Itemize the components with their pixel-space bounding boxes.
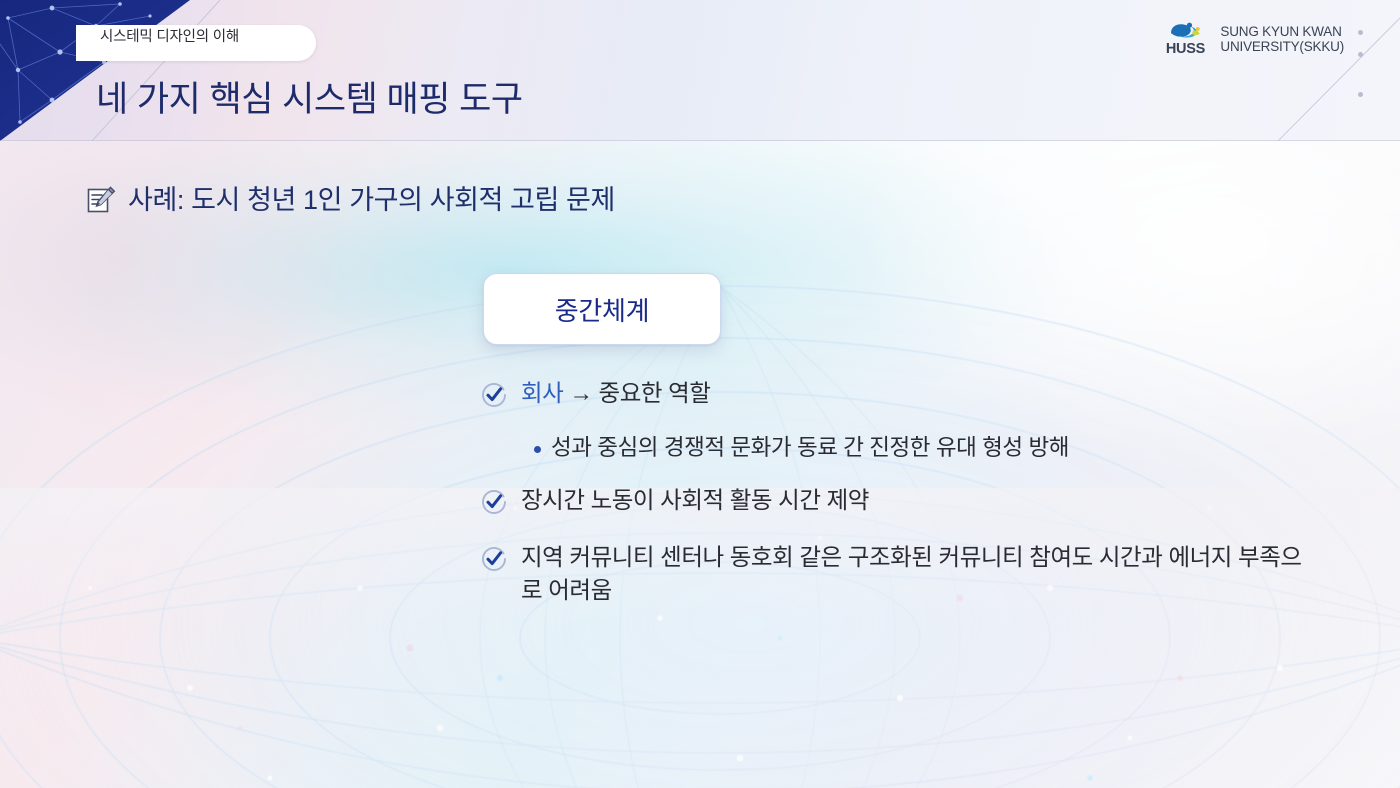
breadcrumb: 시스테믹 디자인의 이해 bbox=[100, 27, 305, 47]
bullet-item: 회사 → 중요한 역할 bbox=[481, 377, 1321, 410]
bullet-rest-text: → 중요한 역할 bbox=[563, 380, 710, 406]
bullet-text: 지역 커뮤니티 센터나 동호회 같은 구조화된 커뮤니티 참여도 시간과 에너지… bbox=[521, 541, 1311, 607]
page-title: 네 가지 핵심 시스템 매핑 도구 bbox=[96, 78, 523, 122]
university-name-line1: SUNG KYUN KWAN bbox=[1220, 24, 1344, 40]
university-name: SUNG KYUN KWAN UNIVERSITY(SKKU) bbox=[1220, 24, 1344, 55]
sub-bullet-text: 성과 중심의 경쟁적 문화가 동료 간 진정한 유대 형성 방해 bbox=[551, 432, 1069, 464]
bullet-text: 회사 → 중요한 역할 bbox=[521, 377, 710, 410]
bullet-text: 장시간 노동이 사회적 활동 시간 제약 bbox=[521, 484, 869, 517]
memo-pencil-icon bbox=[86, 185, 116, 215]
check-circle-icon bbox=[481, 489, 507, 515]
bullet-list: 회사 → 중요한 역할 성과 중심의 경쟁적 문화가 동료 간 진정한 유대 형… bbox=[481, 377, 1321, 629]
university-name-line2: UNIVERSITY(SKKU) bbox=[1220, 39, 1344, 55]
header-divider bbox=[0, 140, 1400, 141]
case-subtitle: 사례: 도시 청년 1인 가구의 사회적 고립 문제 bbox=[86, 183, 615, 217]
mesosystem-card-label: 중간체계 bbox=[555, 291, 649, 328]
bullet-item: 장시간 노동이 사회적 활동 시간 제약 bbox=[481, 484, 1321, 517]
huss-logo-mark: HUSS bbox=[1159, 22, 1211, 56]
check-circle-icon bbox=[481, 382, 507, 408]
university-logo: HUSS SUNG KYUN KWAN UNIVERSITY(SKKU) bbox=[1159, 22, 1344, 56]
sub-bullet-dot-icon bbox=[534, 446, 541, 453]
slide-header: 시스테믹 디자인의 이해 네 가지 핵심 시스템 매핑 도구 HUSS SUNG… bbox=[0, 0, 1400, 141]
slide: 시스테믹 디자인의 이해 네 가지 핵심 시스템 매핑 도구 HUSS SUNG… bbox=[0, 0, 1400, 788]
bullet-item: 지역 커뮤니티 센터나 동호회 같은 구조화된 커뮤니티 참여도 시간과 에너지… bbox=[481, 541, 1321, 607]
huss-wordmark: HUSS bbox=[1166, 42, 1205, 56]
bullet-accent-text: 회사 bbox=[521, 380, 563, 406]
huss-swoosh-icon bbox=[1168, 22, 1202, 41]
check-circle-icon bbox=[481, 546, 507, 572]
sub-bullet-item: 성과 중심의 경쟁적 문화가 동료 간 진정한 유대 형성 방해 bbox=[534, 432, 1321, 464]
mesosystem-card[interactable]: 중간체계 bbox=[483, 273, 721, 345]
case-subtitle-text: 사례: 도시 청년 1인 가구의 사회적 고립 문제 bbox=[128, 183, 615, 217]
